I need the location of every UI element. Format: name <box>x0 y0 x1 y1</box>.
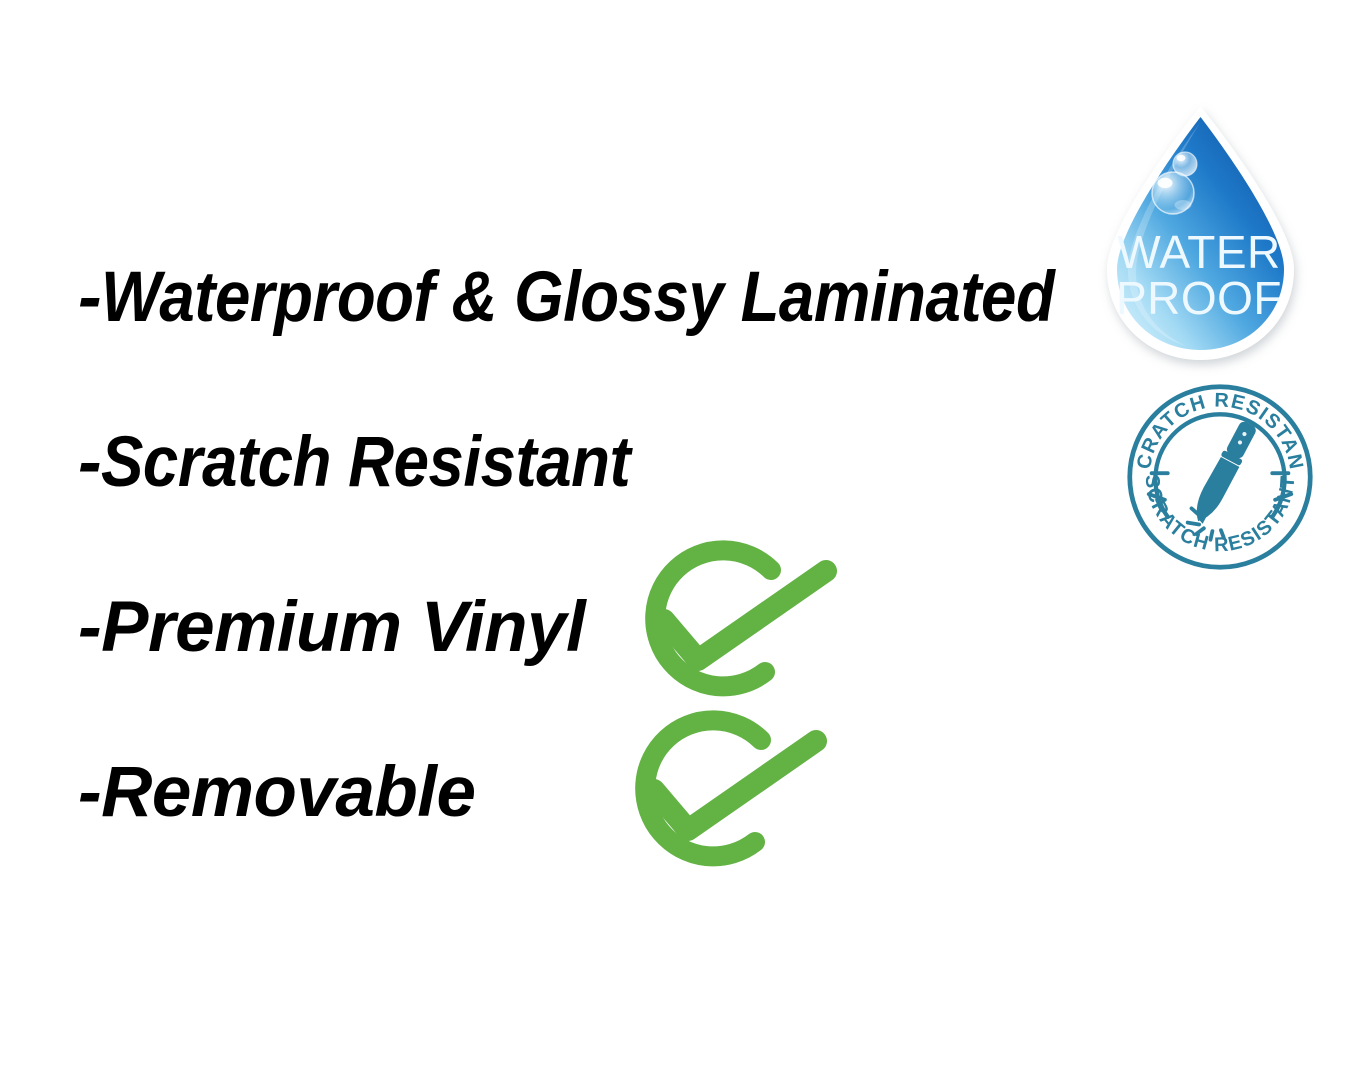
waterproof-line1: WATER <box>1117 226 1280 278</box>
check-circle-1 <box>636 548 841 716</box>
water-bubble-large-icon <box>1152 172 1194 214</box>
knife-icon <box>1188 419 1259 527</box>
feature-item-removable: -Removable <box>78 757 475 828</box>
feature-label: Premium Vinyl <box>101 592 585 663</box>
waterproof-badge: WATER PROOF <box>1098 100 1303 365</box>
feature-item-scratch-resistant: -Scratch Resistant <box>78 427 692 498</box>
feature-list: -Waterproof & Glossy Laminated -Scratch … <box>0 0 1100 1080</box>
feature-label: Removable <box>101 757 475 828</box>
check-circle-2 <box>626 718 831 886</box>
feature-label: Scratch Resistant <box>101 427 630 498</box>
check-mark-icon <box>664 571 826 660</box>
feature-bullet-dash: - <box>78 592 101 663</box>
feature-bullet-dash: - <box>78 262 101 333</box>
feature-bullet-dash: - <box>78 427 101 498</box>
check-mark-icon <box>654 741 816 830</box>
feature-item-premium-vinyl: -Premium Vinyl <box>78 592 585 663</box>
feature-item-waterproof: -Waterproof & Glossy Laminated <box>78 262 1166 333</box>
product-feature-graphic: -Waterproof & Glossy Laminated -Scratch … <box>0 0 1359 1080</box>
scratch-resistant-badge: SCRATCH RESISTANT SCRATCH RESISTANT <box>1122 382 1318 572</box>
waterproof-line2: PROOF <box>1116 272 1282 324</box>
feature-label: Waterproof & Glossy Laminated <box>101 262 1054 333</box>
feature-bullet-dash: - <box>78 757 101 828</box>
